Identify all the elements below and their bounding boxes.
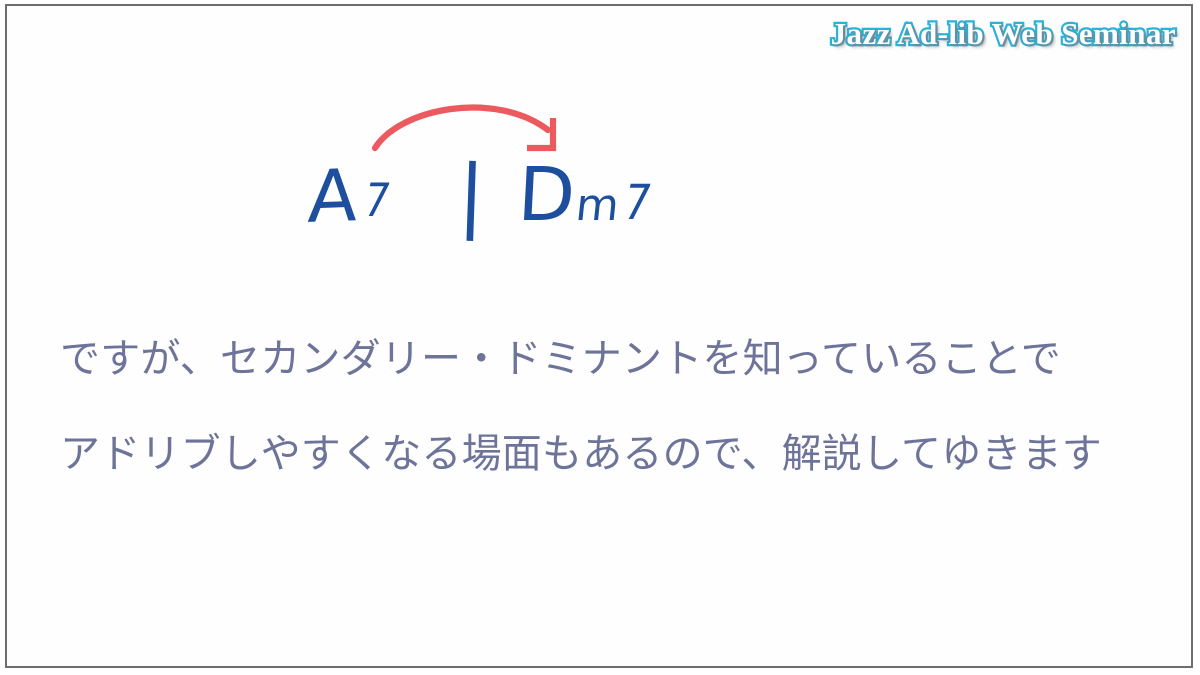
chord-a7-seventh: 7: [359, 175, 394, 228]
chord-a7-root: A: [306, 153, 358, 239]
chord-dm7-root: D: [516, 152, 577, 238]
seminar-title: Jazz Ad-lib Web Seminar: [831, 16, 1176, 52]
chord-progression-diagram: A 7 | D m 7: [280, 90, 710, 270]
chord-dm7-seventh: 7: [619, 174, 656, 230]
chord-dm7-minor: m: [573, 180, 621, 231]
narration-text-block: ですが、セカンダリー・ドミナントを知っていることで アドリブしやすくなる場面もあ…: [60, 312, 1160, 502]
seminar-title-container: Jazz Ad-lib Web Seminar: [831, 14, 1176, 54]
narration-line-2: アドリブしやすくなる場面もあるので、解説してゆきます: [60, 407, 1160, 502]
slide-canvas: Jazz Ad-lib Web Seminar A 7 | D m 7 ですが、…: [0, 0, 1200, 675]
bar-line: |: [456, 148, 486, 242]
narration-line-1: ですが、セカンダリー・ドミナントを知っていることで: [60, 312, 1160, 407]
chord-symbols: A 7 | D m 7: [280, 152, 710, 262]
